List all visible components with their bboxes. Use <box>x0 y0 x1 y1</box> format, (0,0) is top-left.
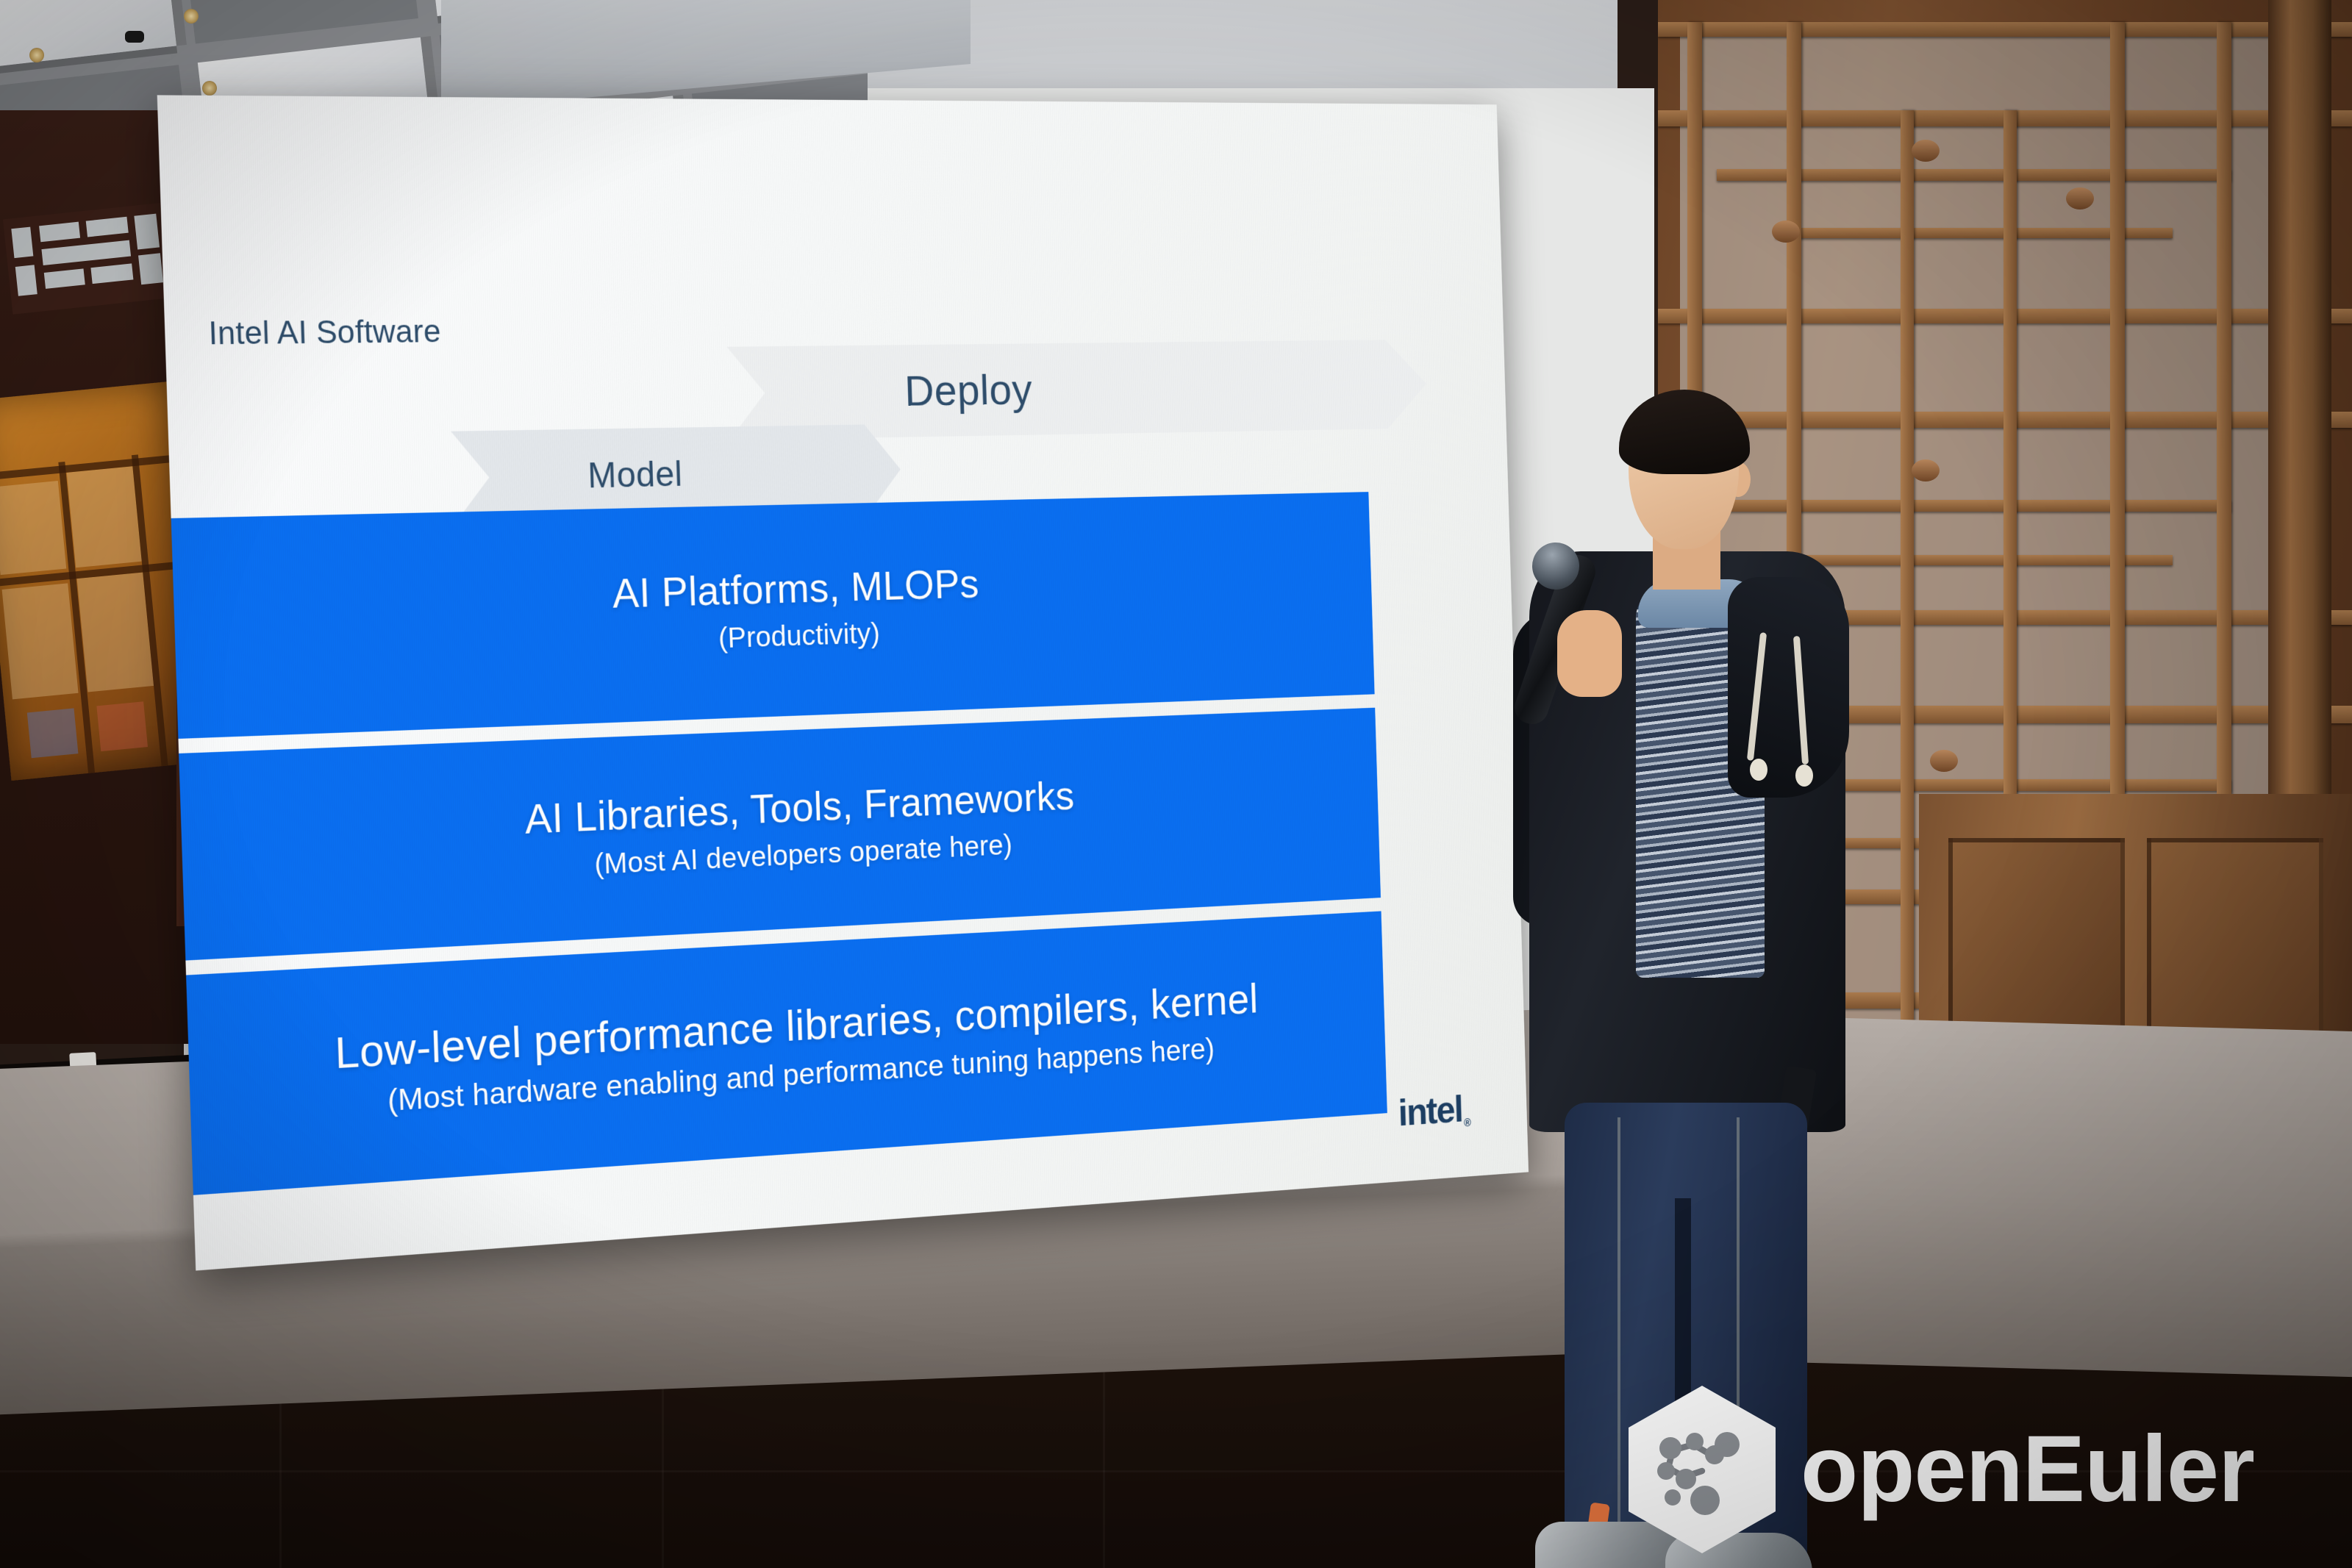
intel-logo: intel® <box>1398 1086 1470 1134</box>
layer-heading: AI Platforms, MLOPs <box>612 563 979 615</box>
pipeline-stage-label: Deploy <box>904 365 1033 416</box>
projection-screen: Intel AI Software Deploy Model Data AI P… <box>157 95 1529 1270</box>
intel-logo-mark: ® <box>1464 1117 1470 1129</box>
openeuler-wordmark: openEuler <box>1801 1422 2254 1517</box>
slide-body: Deploy Model Data AI Platforms, MLOPs (P… <box>163 268 1526 1164</box>
openeuler-hexagon-logo <box>1629 1386 1776 1553</box>
openeuler-watermark: openEuler <box>1629 1386 2254 1553</box>
presentation-slide: Intel AI Software Deploy Model Data AI P… <box>157 95 1529 1270</box>
pipeline-stage-label: Model <box>587 453 683 496</box>
intel-logo-text: intel <box>1398 1087 1463 1134</box>
stack-layer-lowlevel[interactable]: Low-level performance libraries, compile… <box>186 911 1387 1195</box>
pipeline-stage-deploy[interactable]: Deploy <box>726 340 1427 440</box>
screenshot-root: Intel AI Software Deploy Model Data AI P… <box>0 0 2352 1568</box>
layer-subheading: (Productivity) <box>718 617 880 655</box>
stack-layer-platforms[interactable]: AI Platforms, MLOPs (Productivity) <box>171 492 1375 739</box>
